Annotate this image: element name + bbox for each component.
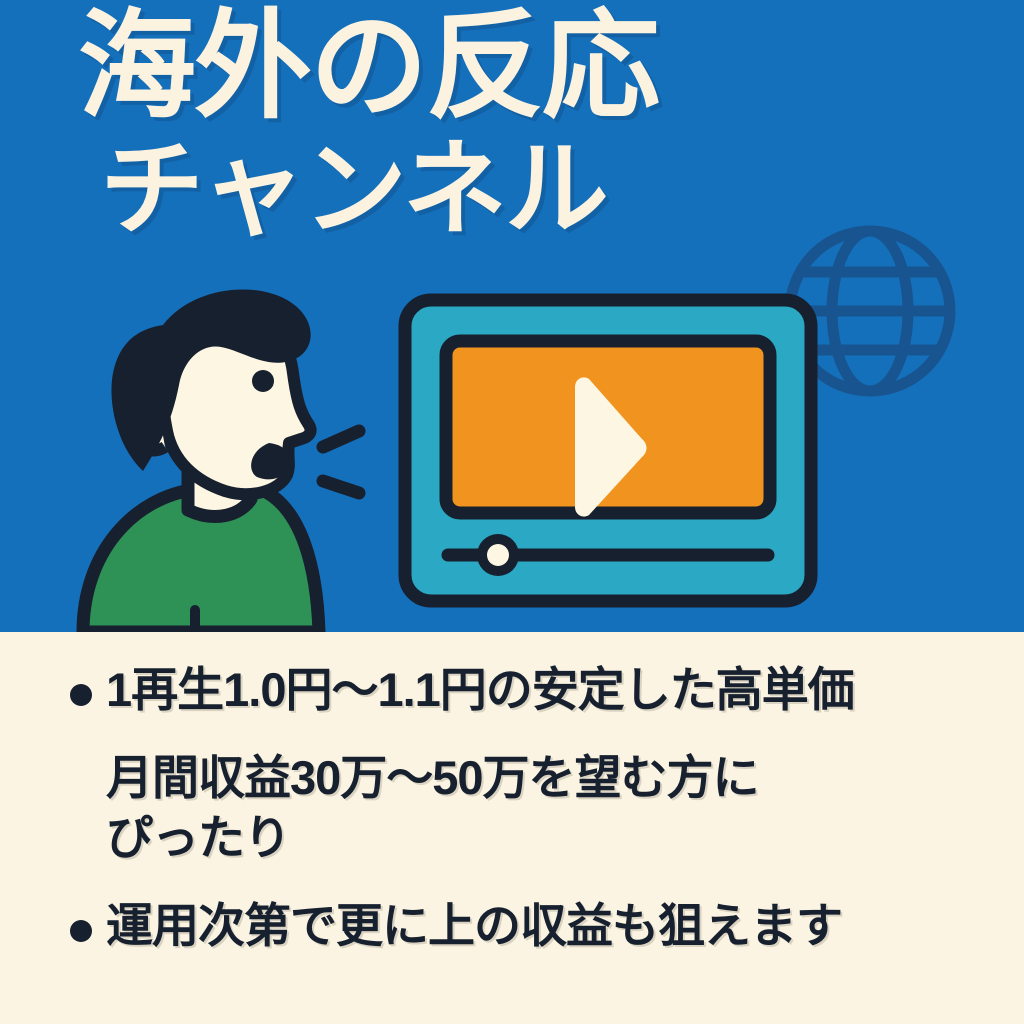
list-item-line: 1再生1.0円〜1.1円の安定した高単価 bbox=[106, 660, 854, 720]
spacer bbox=[70, 874, 994, 896]
speaking-person-illustration bbox=[55, 285, 385, 632]
list-item: 1再生1.0円〜1.1円の安定した高単価 bbox=[70, 660, 994, 720]
spacer bbox=[70, 726, 994, 748]
hero-section: 海外の反応 チャンネル bbox=[0, 0, 1024, 632]
list-item: 月間収益30万〜50万を望む方に ぴったり bbox=[70, 748, 994, 868]
page-title: 海外の反応 チャンネル bbox=[78, 10, 658, 242]
benefits-list: 1再生1.0円〜1.1円の安定した高単価 月間収益30万〜50万を望む方に ぴっ… bbox=[70, 660, 994, 963]
speech-lines-icon bbox=[323, 431, 359, 493]
poster-canvas: 海外の反応 チャンネル bbox=[0, 0, 1024, 1024]
list-item-line: 運用次第で更に上の収益も狙えます bbox=[106, 896, 842, 956]
list-item-text: 運用次第で更に上の収益も狙えます bbox=[106, 896, 842, 956]
video-player-illustration[interactable] bbox=[398, 293, 818, 608]
title-line-2: チャンネル bbox=[100, 140, 658, 242]
list-item-text: 月間収益30万〜50万を望む方に ぴったり bbox=[106, 748, 759, 868]
bullet-dot-icon bbox=[70, 684, 92, 706]
title-line-1: 海外の反応 bbox=[78, 10, 658, 126]
benefits-panel: 1再生1.0円〜1.1円の安定した高単価 月間収益30万〜50万を望む方に ぴっ… bbox=[0, 632, 1024, 1024]
list-item-text: 1再生1.0円〜1.1円の安定した高単価 bbox=[106, 660, 854, 720]
list-item: 運用次第で更に上の収益も狙えます bbox=[70, 896, 994, 956]
list-item-line: 月間収益30万〜50万を望む方に bbox=[106, 748, 759, 808]
list-item-line: ぴったり bbox=[106, 808, 759, 868]
bullet-dot-icon bbox=[70, 920, 92, 942]
